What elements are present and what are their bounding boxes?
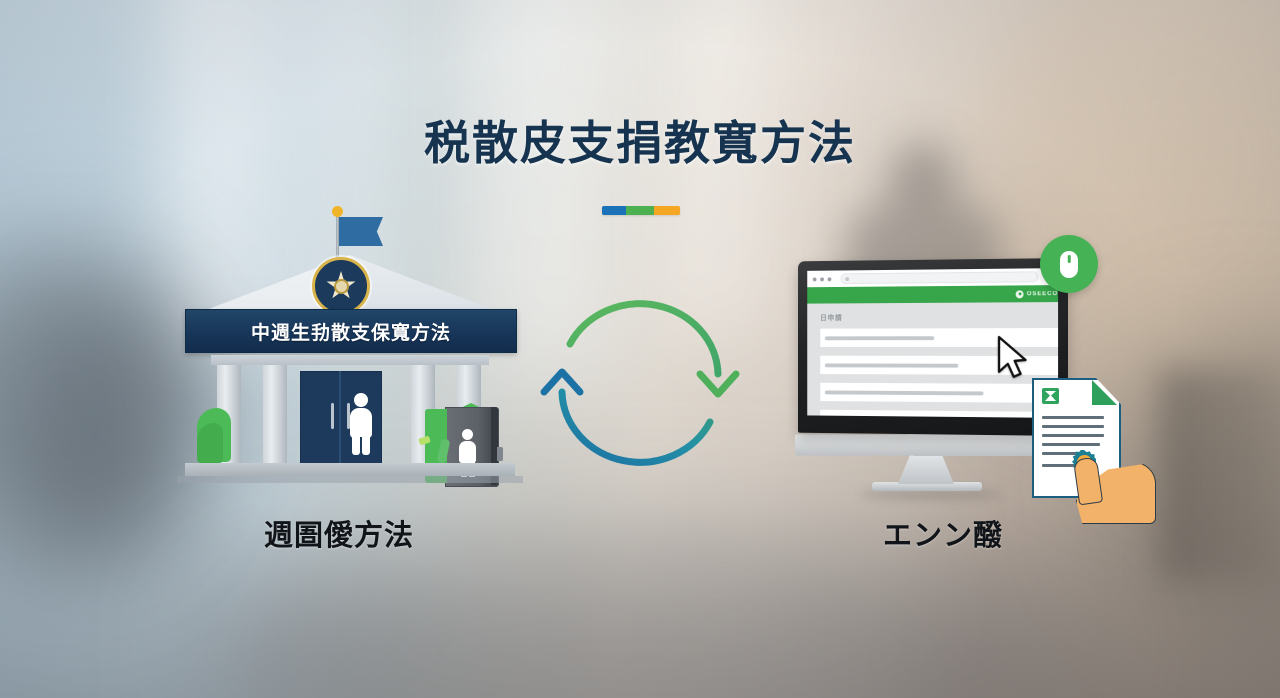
spreadsheet-file-icon bbox=[1042, 388, 1059, 404]
person-icon bbox=[349, 393, 373, 455]
mouse-cursor-icon bbox=[996, 335, 1029, 379]
browser-nav-back-icon[interactable] bbox=[813, 277, 817, 281]
document-corner-fold bbox=[1092, 380, 1117, 405]
building-entablature bbox=[211, 355, 489, 365]
flag-finial bbox=[332, 206, 343, 217]
form-field-text bbox=[825, 363, 959, 367]
door-handle bbox=[331, 403, 334, 429]
accent-segment-green bbox=[626, 206, 654, 215]
browser-nav-forward-icon[interactable] bbox=[820, 277, 824, 281]
building-sign-text: 中週生劧散支保寬方法 bbox=[251, 318, 451, 345]
accent-segment-blue bbox=[602, 206, 626, 215]
arrow-counterclockwise-icon bbox=[544, 372, 710, 462]
browser-toolbar bbox=[807, 268, 1058, 287]
form-section-label: 日申請 bbox=[820, 312, 1058, 323]
form-field[interactable] bbox=[820, 383, 1058, 403]
flag-icon bbox=[339, 217, 383, 246]
door-divider bbox=[339, 371, 341, 465]
accent-segment-orange bbox=[654, 206, 680, 215]
building-column bbox=[263, 365, 287, 465]
exchange-cycle-arrows bbox=[530, 290, 750, 480]
browser-site-icon bbox=[845, 277, 849, 281]
page-title: 税散皮支捐教寬方法 bbox=[0, 118, 1280, 169]
page-title-wrapper: 税散皮支捐教寬方法 bbox=[0, 118, 1280, 169]
form-field-text bbox=[825, 336, 934, 340]
site-logo-icon bbox=[1016, 290, 1024, 298]
label-left-caption: 週圄僾方法 bbox=[264, 512, 414, 554]
site-header-bar: OSEECO bbox=[807, 285, 1058, 304]
government-seal-icon bbox=[312, 257, 370, 315]
arrow-clockwise-icon bbox=[570, 304, 736, 394]
form-field[interactable] bbox=[820, 410, 1058, 418]
label-right-caption: エンン醱 bbox=[883, 512, 1003, 554]
monitor-stand bbox=[898, 454, 954, 484]
title-accent-bar bbox=[602, 206, 680, 215]
monitor-bezel: OSEECO 日申請 bbox=[798, 258, 1068, 436]
kiosk-side-tab bbox=[497, 447, 503, 461]
building-base-shadow bbox=[177, 476, 523, 483]
certified-document-illustration bbox=[1032, 378, 1182, 504]
computer-mouse-icon-badge bbox=[1040, 235, 1098, 293]
building-base-step bbox=[185, 463, 515, 476]
building-sign: 中週生劧散支保寬方法 bbox=[185, 309, 517, 353]
bush-decoration bbox=[197, 423, 223, 463]
screenshot-canvas: 税散皮支捐教寬方法 中週生劧散支保寬方法 bbox=[0, 0, 1280, 698]
monitor-screen: OSEECO 日申請 bbox=[807, 268, 1058, 418]
site-logo-text: OSEECO bbox=[1027, 291, 1058, 297]
form-field-text bbox=[825, 416, 851, 418]
government-building-illustration: 中週生劧散支保寬方法 bbox=[175, 195, 525, 495]
browser-reload-icon[interactable] bbox=[828, 277, 832, 281]
form-field-text bbox=[825, 390, 984, 395]
seal-center bbox=[334, 279, 349, 294]
browser-address-bar[interactable] bbox=[841, 271, 1039, 284]
computer-mouse-icon bbox=[1060, 251, 1078, 278]
